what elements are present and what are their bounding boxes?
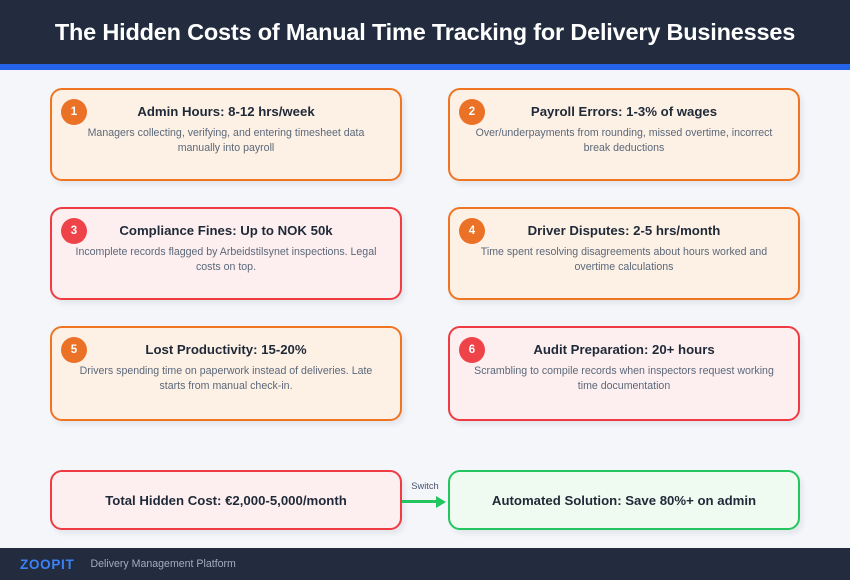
switch-arrow-label: Switch xyxy=(402,481,448,491)
arrow-line xyxy=(402,500,438,503)
total-hidden-cost-box[interactable]: Total Hidden Cost: €2,000-5,000/month xyxy=(50,470,402,530)
card-row-2: 3 Compliance Fines: Up to NOK 50k Incomp… xyxy=(50,207,800,300)
header-bar: The Hidden Costs of Manual Time Tracking… xyxy=(0,0,850,64)
accent-divider xyxy=(0,64,850,70)
cost-card-4[interactable]: 4 Driver Disputes: 2-5 hrs/month Time sp… xyxy=(448,207,800,300)
brand-logo: ZOOPIT xyxy=(20,557,74,572)
switch-arrow: Switch xyxy=(402,470,448,530)
card-title: Lost Productivity: 15-20% xyxy=(52,342,400,357)
cost-card-3[interactable]: 3 Compliance Fines: Up to NOK 50k Incomp… xyxy=(50,207,402,300)
card-row-1: 1 Admin Hours: 8-12 hrs/week Managers co… xyxy=(50,88,800,181)
cost-card-5[interactable]: 5 Lost Productivity: 15-20% Drivers spen… xyxy=(50,326,402,421)
card-title: Compliance Fines: Up to NOK 50k xyxy=(52,223,400,238)
page-title: The Hidden Costs of Manual Time Tracking… xyxy=(0,19,850,46)
infographic-canvas: The Hidden Costs of Manual Time Tracking… xyxy=(0,0,850,580)
card-description: Time spent resolving disagreements about… xyxy=(450,245,798,275)
automated-solution-box[interactable]: Automated Solution: Save 80%+ on admin xyxy=(448,470,800,530)
card-description: Over/underpayments from rounding, missed… xyxy=(450,126,798,156)
cost-card-6[interactable]: 6 Audit Preparation: 20+ hours Scramblin… xyxy=(448,326,800,421)
arrow-head-icon xyxy=(436,496,446,508)
brand-tagline: Delivery Management Platform xyxy=(90,558,235,570)
cost-card-2[interactable]: 2 Payroll Errors: 1-3% of wages Over/und… xyxy=(448,88,800,181)
cost-card-grid: 1 Admin Hours: 8-12 hrs/week Managers co… xyxy=(50,88,800,447)
card-description: Drivers spending time on paperwork inste… xyxy=(52,364,400,394)
card-title: Audit Preparation: 20+ hours xyxy=(450,342,798,357)
card-title: Admin Hours: 8-12 hrs/week xyxy=(52,104,400,119)
card-description: Managers collecting, verifying, and ente… xyxy=(52,126,400,156)
comparison-row: Total Hidden Cost: €2,000-5,000/month Sw… xyxy=(50,470,800,530)
footer-bar: ZOOPIT Delivery Management Platform xyxy=(0,548,850,580)
card-title: Driver Disputes: 2-5 hrs/month xyxy=(450,223,798,238)
cost-card-1[interactable]: 1 Admin Hours: 8-12 hrs/week Managers co… xyxy=(50,88,402,181)
card-title: Payroll Errors: 1-3% of wages xyxy=(450,104,798,119)
card-description: Incomplete records flagged by Arbeidstil… xyxy=(52,245,400,275)
total-hidden-cost-label: Total Hidden Cost: €2,000-5,000/month xyxy=(91,493,361,508)
card-description: Scrambling to compile records when inspe… xyxy=(450,364,798,394)
automated-solution-label: Automated Solution: Save 80%+ on admin xyxy=(478,493,770,508)
card-row-3: 5 Lost Productivity: 15-20% Drivers spen… xyxy=(50,326,800,421)
